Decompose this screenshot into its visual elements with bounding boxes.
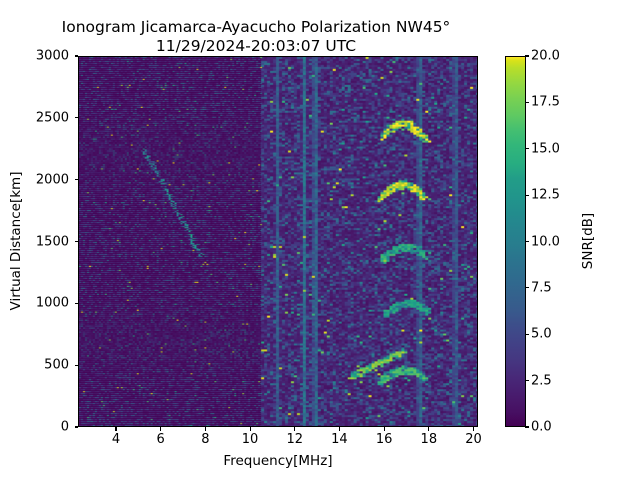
y-axis-tick-label: 2500: [36, 110, 69, 125]
y-axis-tick: [75, 303, 79, 304]
x-axis-tick: [205, 427, 206, 431]
x-axis-tick-label: 16: [376, 432, 393, 447]
colorbar-tick-label: 7.5: [531, 280, 552, 295]
colorbar-tick: [525, 102, 529, 103]
figure-title-line-2: 11/29/2024-20:03:07 UTC: [0, 37, 512, 56]
x-axis-tick: [473, 427, 474, 431]
colorbar-tick: [525, 55, 529, 56]
y-axis-tick-label: 3000: [36, 49, 69, 64]
colorbar-tick: [525, 426, 529, 427]
y-axis-tick: [75, 117, 79, 118]
x-axis-tick: [115, 427, 116, 431]
colorbar-tick-label: 15.0: [531, 141, 560, 156]
x-axis-tick: [160, 427, 161, 431]
colorbar-tick-label: 10.0: [531, 234, 560, 249]
y-axis-tick: [75, 55, 79, 56]
y-axis-tick: [75, 426, 79, 427]
colorbar-tick-label: 2.5: [531, 373, 552, 388]
x-axis-tick: [384, 427, 385, 431]
ionogram-heatmap-canvas: [79, 57, 477, 426]
x-axis-tick-label: 6: [157, 432, 165, 447]
x-axis-tick-label: 4: [112, 432, 120, 447]
colorbar-tick-label: 5.0: [531, 327, 552, 342]
ionogram-figure: Ionogram Jicamarca-Ayacucho Polarization…: [0, 0, 640, 480]
figure-title-line-1: Ionogram Jicamarca-Ayacucho Polarization…: [62, 18, 451, 36]
colorbar-tick: [525, 241, 529, 242]
colorbar-tick-label: 0.0: [531, 420, 552, 435]
y-axis-tick-label: 1500: [36, 234, 69, 249]
y-axis-tick: [75, 241, 79, 242]
y-axis-tick-label: 2000: [36, 172, 69, 187]
colorbar-tick: [525, 287, 529, 288]
colorbar-tick-label: 12.5: [531, 188, 560, 203]
colorbar: [505, 56, 526, 427]
x-axis-tick-label: 20: [465, 432, 482, 447]
y-axis-tick: [75, 179, 79, 180]
y-axis-label: Virtual Distance[km]: [8, 141, 24, 341]
x-axis-tick: [339, 427, 340, 431]
y-axis-tick: [75, 365, 79, 366]
y-axis-tick-label: 1000: [36, 296, 69, 311]
y-axis-tick-label: 0: [61, 420, 69, 435]
x-axis-tick: [428, 427, 429, 431]
colorbar-tick: [525, 148, 529, 149]
y-axis-tick-label: 500: [44, 358, 69, 373]
colorbar-tick-label: 17.5: [531, 95, 560, 110]
ionogram-plot-area: [78, 56, 478, 427]
x-axis-tick: [294, 427, 295, 431]
colorbar-tick-label: 20.0: [531, 49, 560, 64]
x-axis-tick-label: 10: [242, 432, 259, 447]
colorbar-tick: [525, 195, 529, 196]
x-axis-tick-label: 8: [201, 432, 209, 447]
x-axis-tick: [250, 427, 251, 431]
colorbar-tick: [525, 334, 529, 335]
x-axis-label: Frequency[MHz]: [78, 453, 478, 469]
x-axis-tick-label: 14: [331, 432, 348, 447]
x-axis-tick-label: 18: [421, 432, 438, 447]
x-axis-tick-label: 12: [286, 432, 303, 447]
colorbar-tick: [525, 380, 529, 381]
colorbar-label: SNR[dB]: [580, 151, 596, 331]
figure-title: Ionogram Jicamarca-Ayacucho Polarization…: [0, 18, 512, 56]
